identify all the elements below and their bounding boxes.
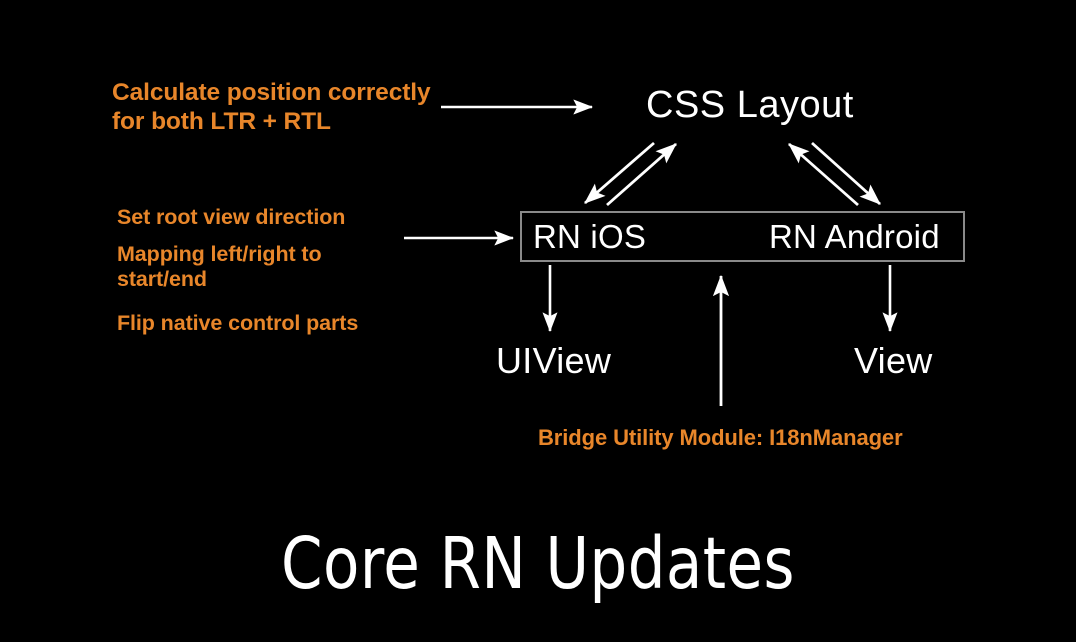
note-set-root-view-direction: Set root view direction: [117, 205, 417, 230]
arrow-rn-android-to-css-layout: [789, 144, 858, 205]
arrow-css-layout-to-rn-ios: [585, 143, 654, 203]
note-bridge-utility-module: Bridge Utility Module: I18nManager: [538, 425, 968, 451]
note-calculate-position: Calculate position correctly for both LT…: [112, 79, 452, 137]
node-rn-android: RN Android: [769, 218, 940, 256]
slide-canvas: Calculate position correctly for both LT…: [0, 0, 1076, 642]
note-flip-native-control-parts: Flip native control parts: [117, 311, 437, 336]
node-rn-ios: RN iOS: [533, 218, 646, 256]
arrow-rn-ios-to-css-layout: [607, 144, 676, 205]
node-view: View: [854, 340, 933, 382]
node-uiview: UIView: [496, 340, 611, 382]
node-css-layout: CSS Layout: [646, 84, 854, 127]
arrow-css-layout-to-rn-android: [812, 143, 880, 204]
slide-title: Core RN Updates: [38, 522, 1039, 605]
note-mapping-left-right: Mapping left/right to start/end: [117, 242, 417, 293]
